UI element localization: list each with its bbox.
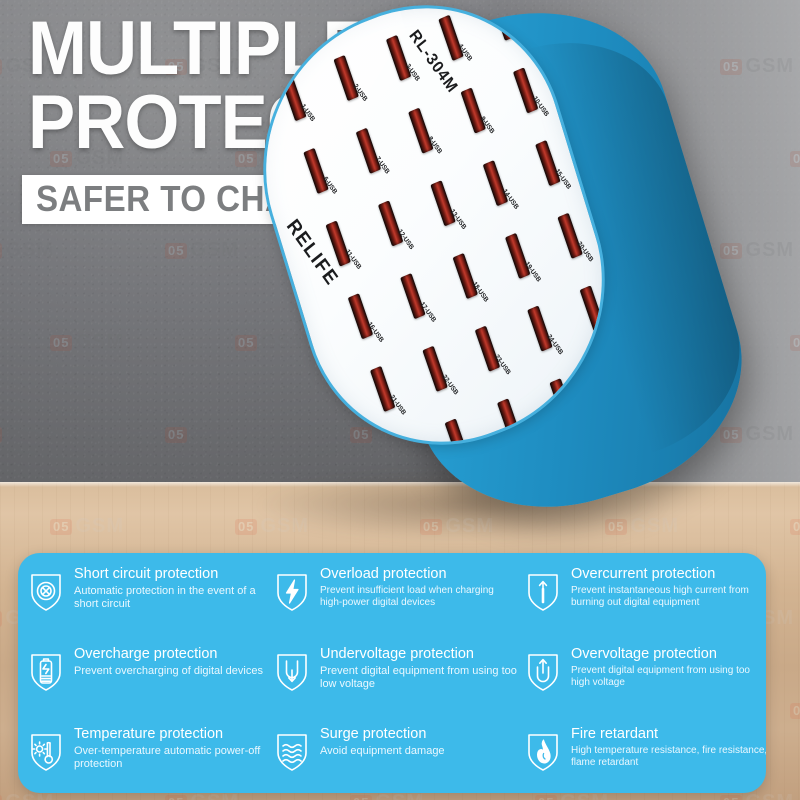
usb-port: 7-USB — [352, 115, 412, 185]
shield-voltage-down-icon — [272, 647, 312, 693]
feature-title: Overload protection — [320, 566, 517, 583]
usb-port: 13-USB — [427, 167, 487, 237]
feature-title: Temperature protection — [74, 726, 266, 743]
feature-item: Overload protectionPrevent insufficient … — [272, 565, 523, 645]
usb-port: 9-USB — [457, 74, 517, 144]
usb-port-slot — [400, 273, 425, 319]
usb-port-slot — [527, 305, 552, 351]
shield-waves-icon — [272, 727, 312, 773]
feature-text: Overvoltage protectionPrevent digital eq… — [571, 645, 766, 689]
usb-port-slot — [483, 160, 508, 206]
feature-item: Surge protectionAvoid equipment damage — [272, 725, 523, 793]
usb-port-slot — [348, 293, 373, 339]
feature-text: Overload protectionPrevent insufficient … — [320, 565, 517, 609]
feature-text: Overcurrent protectionPrevent instantane… — [571, 565, 766, 609]
feature-description: Prevent overcharging of digital devices — [74, 665, 263, 678]
usb-port-label: 26-USB — [411, 466, 430, 488]
feature-description: Prevent insufficient load when charging … — [320, 585, 517, 609]
usb-port-slot — [491, 0, 516, 41]
usb-port: 24-USB — [524, 292, 584, 362]
usb-port-slot — [557, 213, 582, 259]
usb-port: 14-USB — [479, 147, 539, 217]
usb-port: 8-USB — [404, 94, 464, 164]
feature-item: Short circuit protectionAutomatic protec… — [26, 565, 272, 645]
shield-short-circuit-icon — [26, 567, 66, 613]
usb-port-slot — [513, 67, 538, 113]
feature-description: Prevent digital equipment from using too… — [571, 665, 766, 689]
feature-item: Overvoltage protectionPrevent digital eq… — [523, 645, 766, 725]
feature-description: Prevent instantaneous high current from … — [571, 585, 766, 609]
feature-title: Undervoltage protection — [320, 646, 517, 663]
feature-item: Overcharge protectionPrevent overchargin… — [26, 645, 272, 725]
usb-port-slot — [475, 326, 500, 372]
usb-port-slot — [438, 15, 463, 61]
feature-item: Undervoltage protectionPrevent digital e… — [272, 645, 523, 725]
feature-description: High temperature resistance, fire resist… — [571, 745, 766, 769]
shield-bolt-icon — [272, 567, 312, 613]
usb-port-slot — [461, 87, 486, 133]
usb-port-slot — [430, 180, 455, 226]
feature-description: Avoid equipment damage — [320, 745, 445, 758]
usb-port-slot — [392, 439, 417, 485]
usb-port: 21-USB — [366, 353, 426, 423]
usb-port-slot — [453, 253, 478, 299]
usb-port: 12-USB — [374, 187, 434, 257]
product-device: RELIFE RL-304M 1-USB2-USB3-USB4-USB5-USB… — [258, 5, 718, 525]
feature-text: Overcharge protectionPrevent overchargin… — [74, 645, 263, 678]
features-grid: Short circuit protectionAutomatic protec… — [18, 553, 766, 793]
feature-text: Fire retardantHigh temperature resistanc… — [571, 725, 766, 769]
feature-item: Fire retardantHigh temperature resistanc… — [523, 725, 766, 793]
usb-port-slot — [334, 55, 359, 101]
feature-title: Short circuit protection — [74, 566, 266, 583]
feature-title: Overcharge protection — [74, 646, 263, 663]
usb-port: 17-USB — [397, 260, 457, 330]
shield-battery-icon — [26, 647, 66, 693]
usb-port: 16-USB — [344, 280, 404, 350]
features-panel: Short circuit protectionAutomatic protec… — [18, 553, 766, 793]
feature-description: Prevent digital equipment from using too… — [320, 665, 517, 691]
usb-port-slot — [535, 140, 560, 186]
feature-description: Automatic protection in the event of a s… — [74, 585, 266, 611]
feature-title: Fire retardant — [571, 726, 766, 743]
feature-item: Overcurrent protectionPrevent instantane… — [523, 565, 766, 645]
usb-port-slot — [422, 346, 447, 392]
usb-port-slot — [378, 200, 403, 246]
usb-port-slot — [580, 285, 605, 331]
feature-item: Temperature protectionOver-temperature a… — [26, 725, 272, 793]
usb-port-slot — [370, 366, 395, 412]
usb-port-slot — [408, 108, 433, 154]
shield-flame-icon — [523, 727, 563, 773]
usb-port: 22-USB — [419, 333, 479, 403]
usb-port: 18-USB — [449, 240, 509, 310]
feature-text: Short circuit protectionAutomatic protec… — [74, 565, 266, 611]
feature-title: Overvoltage protection — [571, 646, 766, 663]
usb-port: 23-USB — [471, 312, 531, 382]
usb-port-slot — [505, 233, 530, 279]
usb-port: 19-USB — [501, 220, 561, 290]
feature-description: Over-temperature automatic power-off pro… — [74, 745, 266, 771]
shield-thermometer-icon — [26, 727, 66, 773]
shield-current-up-icon — [523, 567, 563, 613]
feature-title: Overcurrent protection — [571, 566, 766, 583]
feature-title: Surge protection — [320, 726, 445, 743]
feature-text: Temperature protectionOver-temperature a… — [74, 725, 266, 771]
usb-port-slot — [386, 35, 411, 81]
product-marketing-image: 05GSM05GSM05GSM05GSM05GSM05GSM05GSM05GSM… — [0, 0, 800, 800]
usb-port: 4-USB — [435, 2, 495, 72]
feature-text: Undervoltage protectionPrevent digital e… — [320, 645, 517, 691]
usb-port-slot — [356, 128, 381, 174]
shield-voltage-up-icon — [523, 647, 563, 693]
feature-text: Surge protectionAvoid equipment damage — [320, 725, 445, 758]
